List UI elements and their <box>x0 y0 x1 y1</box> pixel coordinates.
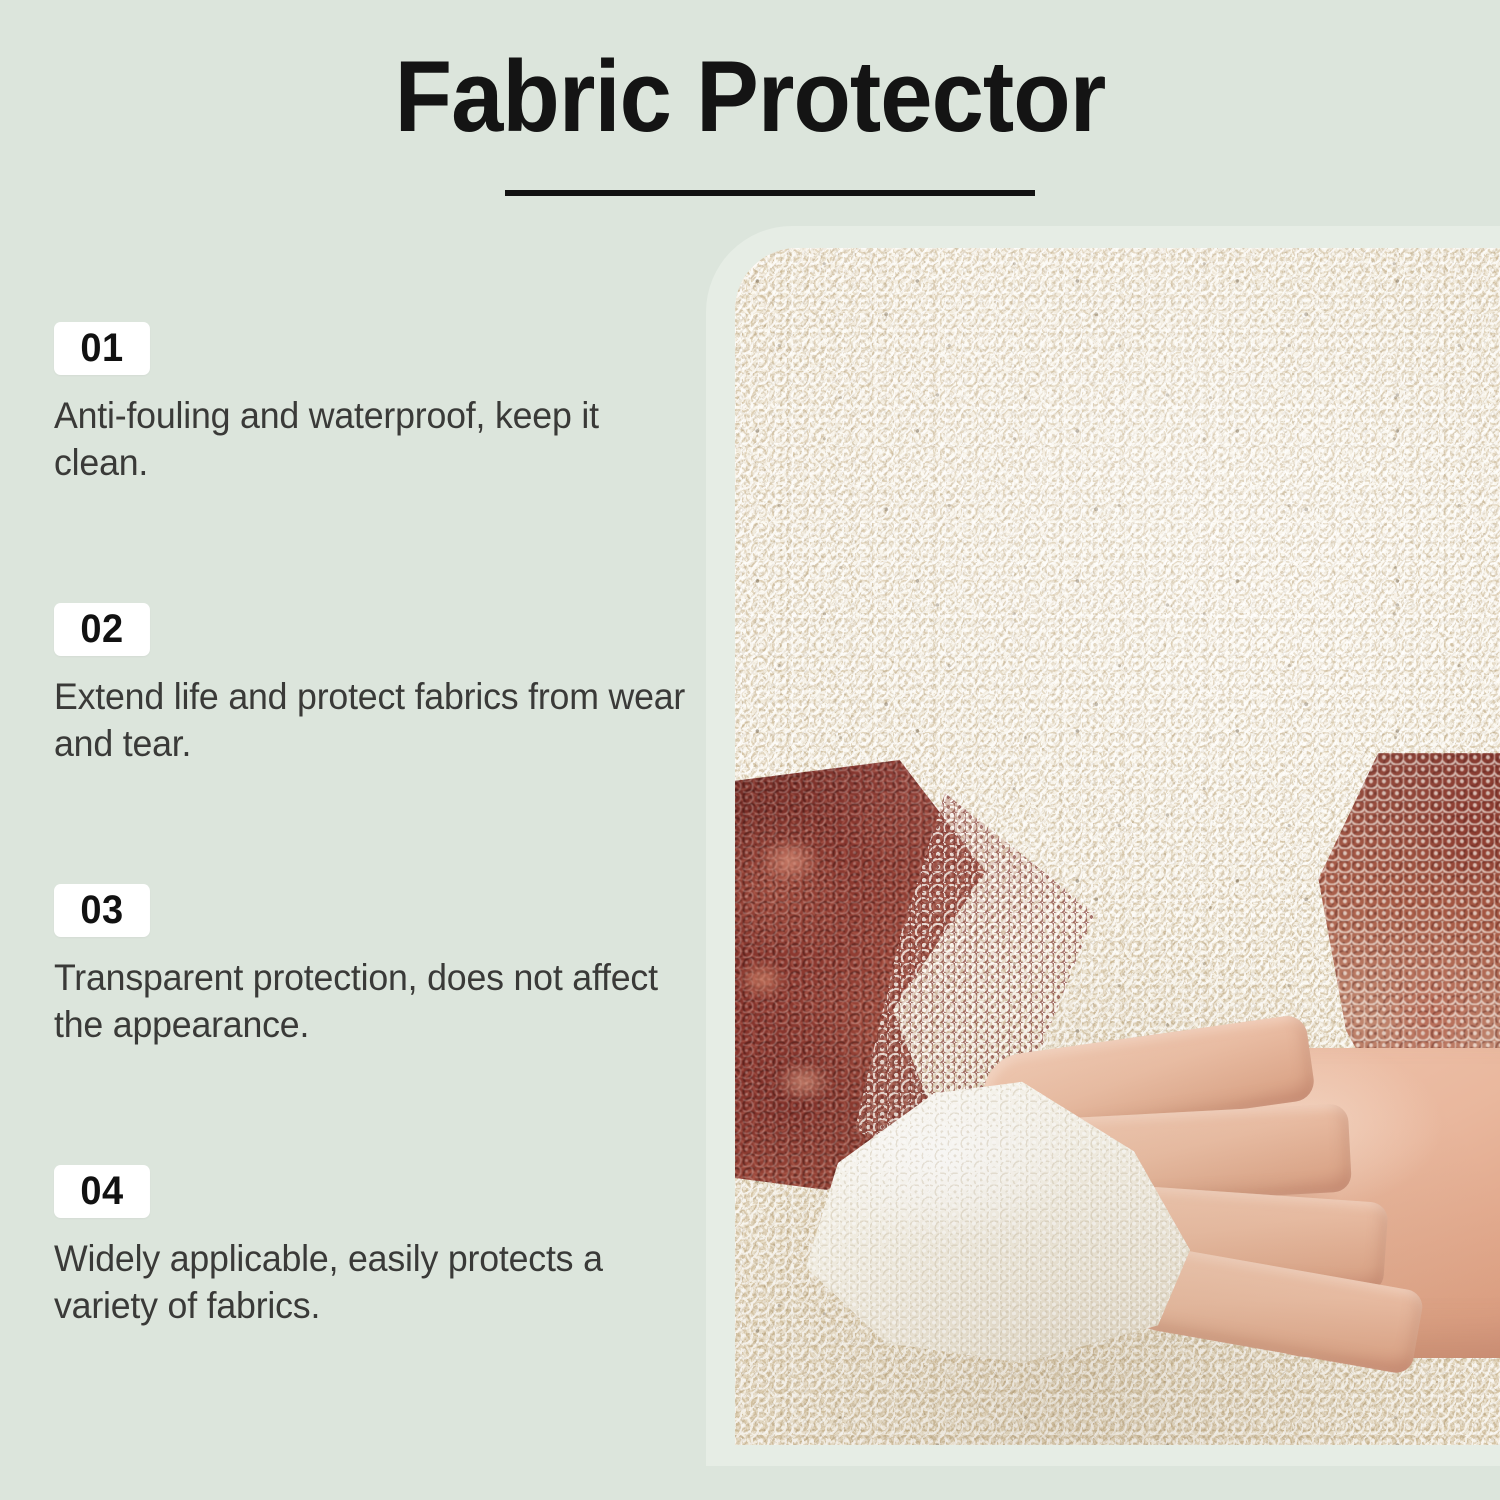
feature-item-04: 04 Widely applicable, easily protects a … <box>54 1165 694 1330</box>
feature-number-badge: 04 <box>54 1165 150 1218</box>
feature-description: Extend life and protect fabrics from wea… <box>54 673 691 768</box>
infographic-canvas: Fabric Protector 01 Anti-fouling and wat… <box>0 0 1500 1500</box>
feature-item-03: 03 Transparent protection, does not affe… <box>54 884 694 1049</box>
feature-item-02: 02 Extend life and protect fabrics from … <box>54 603 694 768</box>
feature-number-badge: 02 <box>54 603 150 656</box>
feature-description: Anti-fouling and waterproof, keep it cle… <box>54 392 691 487</box>
feature-list: 01 Anti-fouling and waterproof, keep it … <box>0 0 700 1500</box>
product-demo-photo <box>735 248 1500 1445</box>
feature-number-badge: 01 <box>54 322 150 375</box>
feature-description: Widely applicable, easily protects a var… <box>54 1235 691 1330</box>
feature-item-01: 01 Anti-fouling and waterproof, keep it … <box>54 322 694 487</box>
feature-number-badge: 03 <box>54 884 150 937</box>
feature-description: Transparent protection, does not affect … <box>54 954 691 1049</box>
